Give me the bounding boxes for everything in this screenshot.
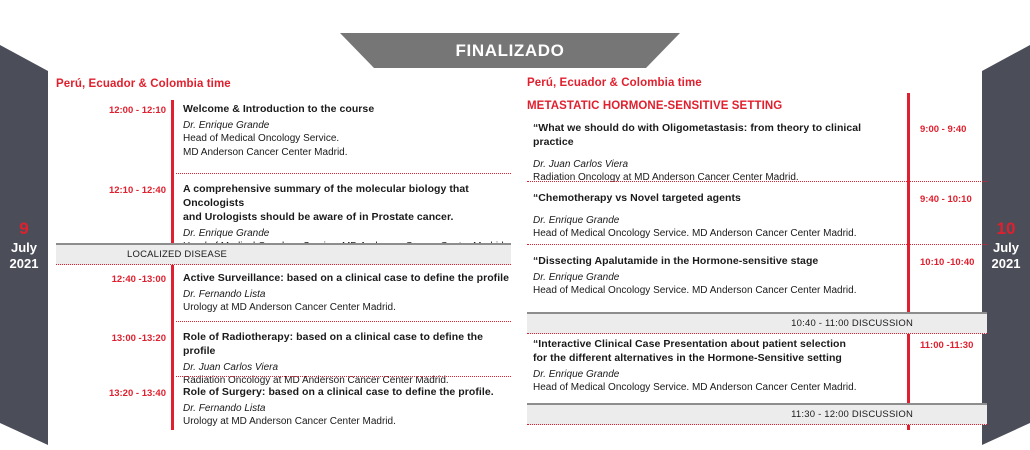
session-speaker: Dr. Enrique Grande	[533, 214, 895, 228]
session-speaker: Dr. Enrique Grande	[533, 271, 895, 285]
session-item[interactable]: 11:00 -11:30 “Interactive Clinical Case …	[527, 338, 987, 395]
date-tab-day1: 9 July 2021	[0, 45, 48, 445]
session-affiliation: Radiation Oncology at MD Anderson Cancer…	[533, 171, 895, 184]
session-body: “What we should do with Oligometastasis:…	[533, 122, 895, 185]
session-time: 12:00 - 12:10	[56, 105, 166, 116]
discussion-band-label: 11:30 - 12:00 DISCUSSION	[791, 409, 913, 420]
session-item[interactable]: 12:40 -13:00 Active Surveillance: based …	[56, 272, 511, 315]
session-affiliation: Head of Medical Oncology Service. MD And…	[533, 381, 895, 394]
date-tab-day1-month: July	[11, 240, 37, 255]
timezone-label-day1: Perú, Ecuador & Colombia time	[56, 78, 231, 90]
section-title-metastatic: METASTATIC HORMONE-SENSITIVE SETTING	[527, 100, 782, 112]
date-tab-day1-day: 9	[19, 219, 28, 239]
date-tab-day2-year: 2021	[992, 256, 1021, 271]
session-body: “Chemotherapy vs Novel targeted agents D…	[533, 192, 895, 241]
discussion-band: 11:30 - 12:00 DISCUSSION	[527, 403, 987, 425]
session-speaker: Dr. Fernando Lista	[183, 288, 511, 302]
session-time: 13:20 - 13:40	[56, 388, 166, 399]
agenda-page: FINALIZADO 9 July 2021 10 July 2021 Perú…	[0, 0, 1030, 450]
session-body: “Dissecting Apalutamide in the Hormone-s…	[533, 255, 895, 298]
session-time: 12:10 - 12:40	[56, 185, 166, 196]
session-title: “Dissecting Apalutamide in the Hormone-s…	[533, 255, 895, 269]
discussion-band-label: 10:40 - 11:00 DISCUSSION	[791, 318, 913, 329]
session-item[interactable]: 9:40 - 10:10 “Chemotherapy vs Novel targ…	[527, 192, 987, 241]
session-separator	[527, 244, 987, 245]
session-separator	[176, 173, 511, 174]
session-speaker: Dr. Enrique Grande	[183, 119, 511, 133]
session-body: Role of Radiotherapy: based on a clinica…	[183, 331, 511, 388]
session-speaker: Dr. Juan Carlos Viera	[533, 158, 895, 172]
session-title: Role of Surgery: based on a clinical cas…	[183, 386, 511, 400]
session-affiliation: Head of Medical Oncology Service. MD And…	[533, 284, 895, 297]
session-body: Active Surveillance: based on a clinical…	[183, 272, 511, 315]
session-title: for the different alternatives in the Ho…	[533, 352, 895, 366]
date-tab-day2-day: 10	[997, 219, 1016, 239]
session-item[interactable]: 9:00 - 9:40 “What we should do with Olig…	[527, 122, 987, 185]
spacer	[533, 150, 895, 156]
session-separator	[176, 376, 511, 377]
session-item[interactable]: 13:20 - 13:40 Role of Surgery: based on …	[56, 386, 511, 429]
session-time: 10:10 -10:40	[920, 257, 987, 268]
session-separator	[527, 181, 987, 182]
date-tab-day2: 10 July 2021	[982, 45, 1030, 445]
session-title: Role of Radiotherapy: based on a clinica…	[183, 331, 511, 359]
session-title: “Interactive Clinical Case Presentation …	[533, 338, 895, 352]
agenda-column-day1: Perú, Ecuador & Colombia time 12:00 - 12…	[56, 0, 511, 450]
session-title: Active Surveillance: based on a clinical…	[183, 272, 511, 286]
session-speaker: Dr. Fernando Lista	[183, 402, 511, 416]
session-time: 13:00 -13:20	[56, 333, 166, 344]
session-body: Welcome & Introduction to the course Dr.…	[183, 103, 511, 159]
session-body: Role of Surgery: based on a clinical cas…	[183, 386, 511, 429]
date-tab-day2-month: July	[993, 240, 1019, 255]
session-separator	[176, 321, 511, 322]
session-body: “Interactive Clinical Case Presentation …	[533, 338, 895, 395]
timezone-label-day2: Perú, Ecuador & Colombia time	[527, 77, 702, 89]
agenda-column-day2: Perú, Ecuador & Colombia time METASTATIC…	[527, 0, 987, 450]
session-affiliation: Urology at MD Anderson Cancer Center Mad…	[183, 301, 511, 314]
session-time: 9:40 - 10:10	[920, 194, 987, 205]
session-time: 11:00 -11:30	[920, 340, 987, 351]
discussion-band: 10:40 - 11:00 DISCUSSION	[527, 312, 987, 334]
session-title: Welcome & Introduction to the course	[183, 103, 511, 117]
section-band-label: LOCALIZED DISEASE	[127, 249, 227, 260]
session-time: 9:00 - 9:40	[920, 124, 987, 135]
session-affiliation: Urology at MD Anderson Cancer Center Mad…	[183, 415, 511, 428]
session-affiliation: Head of Medical Oncology Service. MD And…	[533, 227, 895, 240]
session-title: “Chemotherapy vs Novel targeted agents	[533, 192, 895, 206]
session-title: “What we should do with Oligometastasis:…	[533, 122, 895, 150]
spacer	[533, 206, 895, 212]
session-item[interactable]: 12:00 - 12:10 Welcome & Introduction to …	[56, 103, 511, 159]
session-affiliation: Head of Medical Oncology Service.	[183, 132, 511, 145]
session-speaker: Dr. Juan Carlos Viera	[183, 361, 511, 375]
session-time: 12:40 -13:00	[56, 274, 166, 285]
date-tab-day1-year: 2021	[10, 256, 39, 271]
session-speaker: Dr. Enrique Grande	[533, 368, 895, 382]
session-speaker: Dr. Enrique Grande	[183, 227, 511, 241]
session-affiliation: MD Anderson Cancer Center Madrid.	[183, 146, 511, 159]
session-title: and Urologists should be aware of in Pro…	[183, 211, 511, 225]
session-title: A comprehensive summary of the molecular…	[183, 183, 511, 211]
session-item[interactable]: 13:00 -13:20 Role of Radiotherapy: based…	[56, 331, 511, 388]
section-band-localized-disease: LOCALIZED DISEASE	[56, 243, 511, 265]
session-item[interactable]: 10:10 -10:40 “Dissecting Apalutamide in …	[527, 255, 987, 298]
